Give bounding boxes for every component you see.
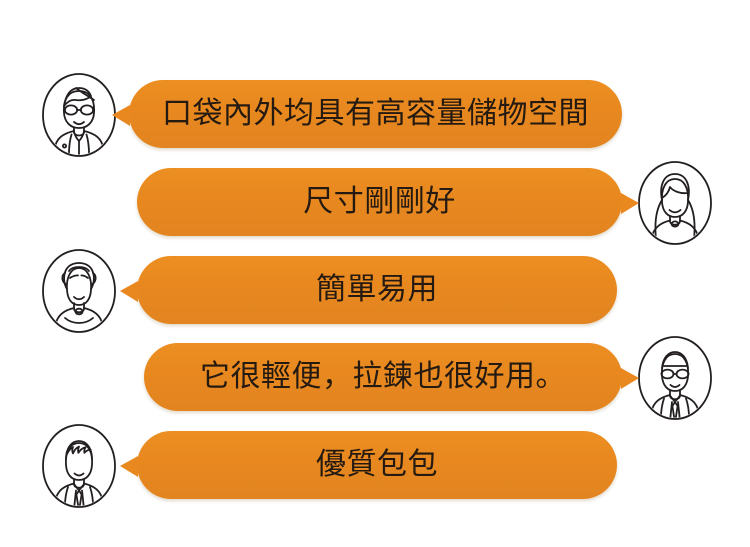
review-row: 簡單易用 (0, 248, 750, 334)
bubble-text: 它很輕便，拉鍊也很好用。 (186, 362, 580, 392)
speech-bubble[interactable]: 口袋內外均具有高容量儲物空間 (129, 80, 622, 148)
bubble-tail-icon (112, 105, 130, 126)
bubble-text: 優質包包 (302, 450, 452, 480)
bubble-text: 簡單易用 (302, 275, 452, 305)
speech-bubble[interactable]: 簡單易用 (137, 256, 617, 324)
avatar-woman-curly-hair (40, 248, 118, 334)
bubble-text: 口袋內外均具有高容量儲物空間 (148, 99, 603, 129)
speech-bubble[interactable]: 它很輕便，拉鍊也很好用。 (144, 343, 622, 411)
bubble-tail-icon (621, 193, 639, 214)
avatar-woman-long-hair (636, 160, 714, 246)
review-row: 優質包包 (0, 423, 750, 509)
bubble-tail-icon (120, 281, 138, 302)
speech-bubble[interactable]: 尺寸剛剛好 (137, 168, 622, 236)
review-bubbles-canvas: 口袋內外均具有高容量儲物空間 (0, 0, 750, 547)
review-row: 它很輕便，拉鍊也很好用。 (0, 335, 750, 421)
avatar-man-glasses-suit (636, 335, 714, 421)
bubble-text: 尺寸剛剛好 (289, 187, 470, 217)
bubble-tail-icon (621, 368, 639, 389)
bubble-tail-icon (120, 456, 138, 477)
speech-bubble[interactable]: 優質包包 (137, 431, 617, 499)
avatar-man-spiky-hair-suit (40, 423, 118, 509)
review-row: 口袋內外均具有高容量儲物空間 (0, 72, 750, 158)
avatar-person-glasses-jacket (40, 72, 118, 158)
review-row: 尺寸剛剛好 (0, 160, 750, 246)
